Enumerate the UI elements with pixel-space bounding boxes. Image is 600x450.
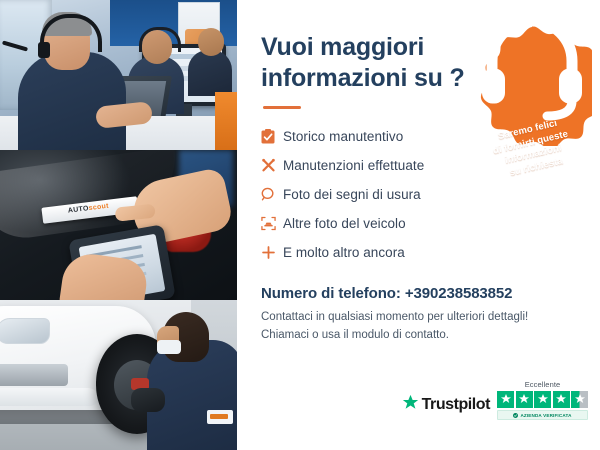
contact-line-1: Contattaci in qualsiasi momento per ulte… (261, 309, 578, 327)
trustpilot-rating-label: Eccellente (525, 380, 561, 389)
feature-item-altro: E molto altro ancora (261, 239, 578, 266)
photo-orange-panel (215, 92, 237, 150)
feature-label: E molto altro ancora (283, 245, 405, 260)
phone-number: Numero di telefono: +390238583852 (261, 285, 578, 302)
contact-line-2: Chiamaci o usa il modulo di contatto. (261, 327, 578, 345)
vehicle-inspection-tablet-photo: AUTOscout (0, 150, 237, 300)
headset-icon (472, 0, 592, 122)
trustpilot-star-icon (402, 394, 419, 416)
feature-label: Storico manutentivo (283, 129, 403, 144)
feature-label: Foto dei segni di usura (283, 187, 421, 202)
star-box (553, 391, 570, 408)
magnifier-icon (261, 187, 283, 202)
trustpilot-stars (497, 391, 588, 408)
feature-label: Manutenzioni effettuate (283, 158, 424, 173)
photo-mechanic-mask (157, 340, 181, 354)
photo-finger (115, 204, 156, 222)
trustpilot-wordmark: Trustpilot (422, 396, 490, 414)
car-frame-icon (261, 216, 283, 231)
trustpilot-score-block: Eccellente (497, 380, 588, 421)
verified-check-icon (513, 413, 518, 418)
wrench-screwdriver-icon (261, 158, 283, 173)
photo-grille (0, 364, 68, 386)
star-box (534, 391, 551, 408)
trustpilot-logo: Trustpilot (402, 394, 490, 420)
feature-label: Altre foto del veicolo (283, 216, 406, 231)
verified-label: AZIENDA VERIFICATA (520, 413, 571, 418)
trustpilot-verified-badge: AZIENDA VERIFICATA (497, 410, 588, 420)
photo-headlamp (0, 318, 50, 344)
page-title: Vuoi maggiori informazioni su ? (261, 32, 466, 93)
photo-background-person-2 (188, 50, 232, 96)
contact-description: Contattaci in qualsiasi momento per ulte… (261, 309, 578, 345)
call-center-agents-photo (0, 0, 237, 150)
photo-column: AUTOscout (0, 0, 237, 450)
photo-bumper (0, 388, 98, 406)
callout-badge: Saremo felici di fornirti queste informa… (472, 24, 592, 146)
title-divider (263, 106, 301, 109)
star-box (497, 391, 514, 408)
photo-mechanic-glove (131, 388, 165, 412)
photo-uniform-patch (207, 410, 233, 424)
star-box-half (571, 391, 588, 408)
trustpilot-rating: Trustpilot Eccellente (402, 380, 588, 421)
feature-item-altre-foto: Altre foto del veicolo (261, 210, 578, 237)
feature-item-foto-usura: Foto dei segni di usura (261, 181, 578, 208)
mechanic-wheel-service-photo (0, 300, 237, 450)
plus-icon (261, 245, 283, 260)
advertisement-banner: AUTOscout (0, 0, 600, 450)
photo-strip-brand: AUTOscout (68, 203, 110, 215)
clipboard-check-icon (261, 129, 283, 144)
star-box (516, 391, 533, 408)
photo-agent-headset-icon (40, 14, 102, 52)
content-panel: Vuoi maggiori informazioni su ? Saremo f… (237, 0, 600, 450)
